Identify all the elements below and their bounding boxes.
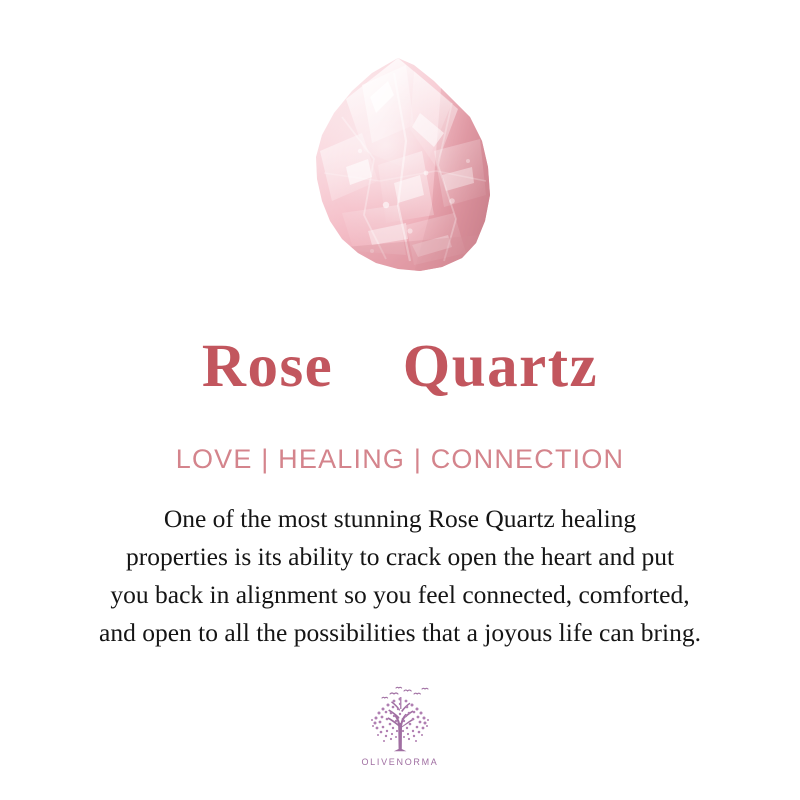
description-text: One of the most stunning Rose Quartz hea… <box>0 500 800 652</box>
description-line: you back in alignment so you feel connec… <box>0 576 800 614</box>
keyword-tagline: LOVE | HEALING | CONNECTION <box>0 444 800 475</box>
brand-logo: OLIVENORMA <box>0 683 800 767</box>
tree-of-life-icon <box>360 683 440 755</box>
description-line: and open to all the possibilities that a… <box>0 614 800 652</box>
page-title: Rose Quartz <box>0 335 800 399</box>
rose-quartz-stone-image <box>302 55 502 280</box>
brand-wordmark: OLIVENORMA <box>0 757 800 767</box>
product-image-area <box>0 55 800 285</box>
rose-quartz-illustration <box>302 55 502 280</box>
rose-quartz-poster: Rose Quartz LOVE | HEALING | CONNECTION … <box>0 0 800 800</box>
description-line: One of the most stunning Rose Quartz hea… <box>0 500 800 538</box>
description-line: properties is its ability to crack open … <box>0 538 800 576</box>
